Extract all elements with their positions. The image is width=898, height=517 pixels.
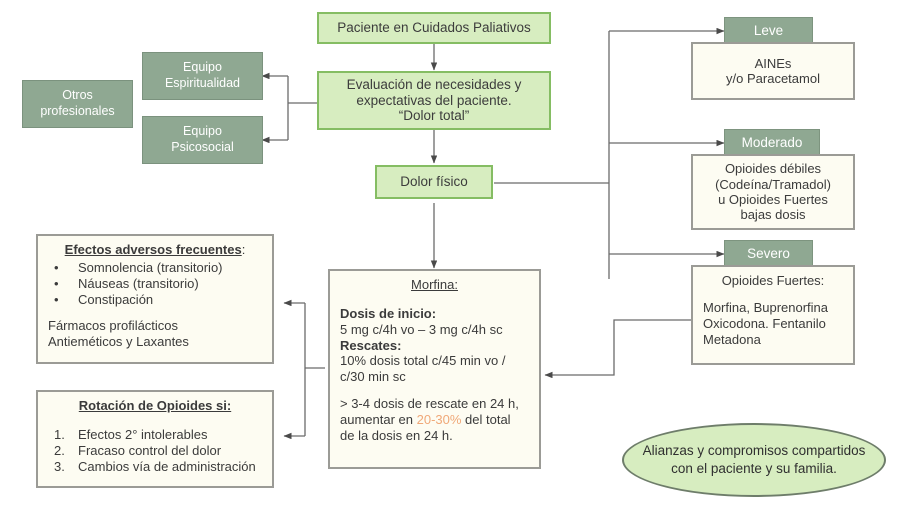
spacer	[48, 307, 262, 318]
evaluacion-line-3: “Dolor total”	[399, 108, 470, 124]
treatment-line-2: y/o Paracetamol	[726, 71, 820, 86]
list-item-label: Efectos 2° intolerables	[78, 427, 208, 443]
treatment-line-3: u Opioides Fuertes	[718, 192, 828, 207]
morfina-title: Morfina:	[411, 277, 458, 292]
node-equipo-espiritualidad[interactable]: Equipo Espiritualidad	[142, 52, 263, 100]
escalation-suffix: del total	[461, 412, 510, 427]
flowchart-canvas: Paciente en Cuidados Paliativos Evaluaci…	[0, 0, 898, 517]
panel-moderado-treatment[interactable]: Opioides débiles (Codeína/Tramadol) u Op…	[691, 154, 855, 230]
node-equipo-psicosocial[interactable]: Equipo Psicosocial	[142, 116, 263, 164]
panel-rotacion-opioides[interactable]: Rotación de Opioides si: 1.Efectos 2° in…	[36, 390, 274, 488]
adverse-footer-line-2: Antieméticos y Laxantes	[48, 334, 262, 350]
panel-leve-treatment[interactable]: AINEs y/o Paracetamol	[691, 42, 855, 100]
rotation-list: 1.Efectos 2° intolerables 2.Fracaso cont…	[48, 427, 262, 475]
node-evaluacion-necesidades[interactable]: Evaluación de necesidades y expectativas…	[317, 71, 551, 130]
morfina-start-dose-label: Dosis de inicio:	[340, 306, 529, 322]
panel-efectos-adversos[interactable]: Efectos adversos frecuentes: •Somnolenci…	[36, 234, 274, 364]
escalation-prefix: aumentar en	[340, 412, 417, 427]
morfina-rescue-line-1: 10% dosis total c/45 min vo /	[340, 353, 529, 369]
list-marker: 1.	[54, 427, 68, 443]
list-item: 1.Efectos 2° intolerables	[48, 427, 262, 443]
severo-body-title: Opioides Fuertes:	[703, 273, 843, 289]
list-item: 3.Cambios vía de administración	[48, 459, 262, 475]
morfina-rescue-label: Rescates:	[340, 338, 529, 354]
adverse-title-suffix: :	[242, 242, 246, 257]
spacer	[340, 295, 529, 306]
list-item: •Constipación	[48, 292, 262, 308]
adverse-footer-line-1: Fármacos profilácticos	[48, 318, 262, 334]
list-item-label: Fracaso control del dolor	[78, 443, 221, 459]
rotation-title: Rotación de Opioides si:	[79, 398, 231, 413]
bullet-marker: •	[54, 276, 68, 292]
team-line-1: Otros	[62, 88, 93, 104]
morfina-escalation-line-2: aumentar en 20-30% del total	[340, 412, 529, 428]
alliance-line-1: Alianzas y compromisos compartidos	[643, 442, 866, 460]
node-alianzas-compromisos[interactable]: Alianzas y compromisos compartidos con e…	[622, 423, 886, 497]
bullet-marker: •	[54, 292, 68, 308]
treatment-line-4: bajas dosis	[740, 207, 805, 222]
list-item-label: Constipación	[78, 292, 153, 308]
evaluacion-line-1: Evaluación de necesidades y	[347, 77, 522, 93]
spacer	[48, 416, 262, 427]
treatment-line-2: (Codeína/Tramadol)	[715, 177, 831, 192]
escalation-highlight: 20-30%	[417, 412, 462, 427]
morfina-start-dose-value: 5 mg c/4h vo – 3 mg c/4h sc	[340, 322, 529, 338]
list-marker: 3.	[54, 459, 68, 475]
list-item: 2.Fracaso control del dolor	[48, 443, 262, 459]
list-marker: 2.	[54, 443, 68, 459]
chip-severity-moderado[interactable]: Moderado	[724, 129, 820, 157]
team-line-2: Espiritualidad	[165, 76, 240, 92]
node-label: Dolor físico	[400, 174, 468, 190]
chip-label: Moderado	[742, 135, 803, 151]
chip-label: Severo	[747, 246, 790, 262]
team-line-2: Psicosocial	[171, 140, 234, 156]
node-dolor-fisico[interactable]: Dolor físico	[375, 165, 493, 199]
severo-line-3: Metadona	[703, 332, 843, 348]
list-item: •Somnolencia (transitorio)	[48, 260, 262, 276]
spacer	[340, 385, 529, 396]
panel-severo-treatment[interactable]: Opioides Fuertes: Morfina, Buprenorfina …	[691, 265, 855, 365]
treatment-line-1: AINEs	[755, 56, 792, 71]
morfina-escalation-line-1: > 3-4 dosis de rescate en 24 h,	[340, 396, 529, 412]
severo-line-1: Morfina, Buprenorfina	[703, 300, 843, 316]
adverse-effects-list: •Somnolencia (transitorio) •Náuseas (tra…	[48, 260, 262, 308]
adverse-title: Efectos adversos frecuentes	[65, 242, 242, 257]
panel-morfina[interactable]: Morfina: Dosis de inicio: 5 mg c/4h vo –…	[328, 269, 541, 469]
node-paciente-cuidados-paliativos[interactable]: Paciente en Cuidados Paliativos	[317, 12, 551, 44]
team-line-2: profesionales	[40, 104, 114, 120]
node-otros-profesionales[interactable]: Otros profesionales	[22, 80, 133, 128]
edge-severo-to-morfina	[545, 320, 700, 375]
chip-label: Leve	[754, 23, 783, 39]
team-line-1: Equipo	[183, 60, 222, 76]
treatment-line-1: Opioides débiles	[725, 161, 821, 176]
evaluacion-line-2: expectativas del paciente.	[356, 93, 511, 109]
severo-line-2: Oxicodona. Fentanilo	[703, 316, 843, 332]
morfina-escalation-line-3: de la dosis en 24 h.	[340, 428, 529, 444]
spacer	[703, 289, 843, 300]
list-item-label: Cambios vía de administración	[78, 459, 256, 475]
chip-severity-leve[interactable]: Leve	[724, 17, 813, 45]
alliance-line-2: con el paciente y su familia.	[671, 460, 837, 478]
bullet-marker: •	[54, 260, 68, 276]
list-item-label: Somnolencia (transitorio)	[78, 260, 223, 276]
list-item-label: Náuseas (transitorio)	[78, 276, 199, 292]
team-line-1: Equipo	[183, 124, 222, 140]
list-item: •Náuseas (transitorio)	[48, 276, 262, 292]
morfina-rescue-line-2: c/30 min sc	[340, 369, 529, 385]
node-label: Paciente en Cuidados Paliativos	[337, 20, 531, 36]
chip-severity-severo[interactable]: Severo	[724, 240, 813, 268]
